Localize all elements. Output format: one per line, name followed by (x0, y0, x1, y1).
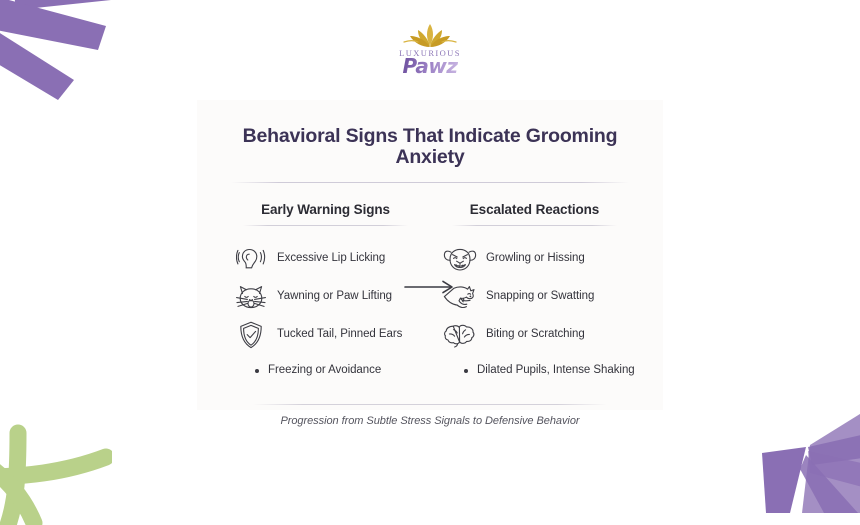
angry-dog-face-icon (440, 242, 480, 276)
cat-yawning-face-icon (231, 280, 271, 314)
column-escalated-reactions: Escalated Reactions (430, 203, 639, 388)
shield-check-icon (231, 318, 271, 352)
brand-wordmark-pawz: Pawz (403, 56, 458, 76)
list-item-label: Freezing or Avoidance (268, 364, 381, 378)
list-item: Snapping or Swatting (430, 278, 639, 316)
brand-logo: LUXURIOUS Pawz (0, 20, 860, 76)
card-footer-caption: Progression from Subtle Stress Signals t… (221, 415, 639, 427)
list-item: Freezing or Avoidance (221, 354, 430, 388)
list-item: Yawning or Paw Lifting (221, 278, 430, 316)
escalated-reactions-list: Growling or Hissing (430, 240, 639, 388)
purple-fan-bottom-right-decoration (750, 403, 860, 513)
column-early-warning-signs: Early Warning Signs (221, 203, 430, 388)
list-item-label: Tucked Tail, Pinned Ears (277, 328, 402, 342)
green-star-bottom-left-decoration (0, 415, 112, 525)
bullet-dot-icon (464, 369, 468, 373)
early-warning-signs-list: Excessive Lip Licking (221, 240, 430, 388)
list-item: Tucked Tail, Pinned Ears (221, 316, 430, 354)
footer-divider (253, 404, 607, 405)
list-item-label: Excessive Lip Licking (277, 252, 385, 266)
ear-listening-icon (231, 242, 271, 276)
list-item-label: Yawning or Paw Lifting (277, 290, 392, 304)
column-heading-divider (452, 225, 617, 226)
arrow-right-icon (403, 279, 457, 295)
column-heading-escalated-reactions: Escalated Reactions (430, 203, 639, 218)
title-divider (231, 182, 629, 183)
list-item-label: Snapping or Swatting (486, 290, 594, 304)
brain-icon (440, 318, 480, 352)
list-item: Excessive Lip Licking (221, 240, 430, 278)
bullet-dot-icon (255, 369, 259, 373)
infographic-card: Behavioral Signs That Indicate Grooming … (197, 100, 663, 410)
list-item-label: Biting or Scratching (486, 328, 585, 342)
list-item: Biting or Scratching (430, 316, 639, 354)
column-heading-divider (243, 225, 408, 226)
list-item: Dilated Pupils, Intense Shaking (430, 354, 639, 388)
list-item-label: Growling or Hissing (486, 252, 585, 266)
list-item-label: Dilated Pupils, Intense Shaking (477, 364, 635, 378)
column-heading-early-warning-signs: Early Warning Signs (221, 203, 430, 218)
columns-container: Early Warning Signs (221, 203, 639, 388)
list-item: Growling or Hissing (430, 240, 639, 278)
lotus-flower-icon (402, 20, 458, 50)
card-title: Behavioral Signs That Indicate Grooming … (221, 126, 639, 169)
